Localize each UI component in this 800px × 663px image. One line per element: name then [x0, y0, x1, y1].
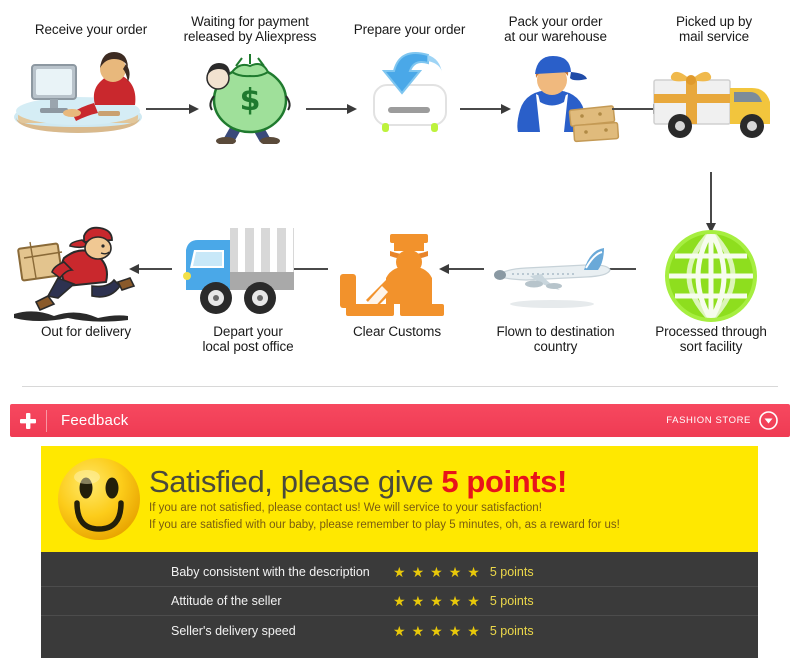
star-icon: ★: [412, 624, 425, 638]
download-box-icon: [332, 37, 487, 137]
rating-points: 5 points: [490, 565, 534, 579]
table-row: Baby consistent with the description ★ ★…: [41, 558, 758, 587]
star-icon: ★: [393, 565, 406, 579]
banner-heading-suffix: !: [557, 464, 567, 499]
flow-step-label: Processed through sort facility: [631, 324, 791, 354]
store-name-label: FASHION STORE: [666, 415, 759, 426]
rating-points: 5 points: [490, 594, 534, 608]
running-courier-icon: [6, 220, 166, 324]
customs-officer-icon: [322, 228, 472, 324]
rating-label: Seller's delivery speed: [41, 624, 371, 638]
flow-step-label: Waiting for payment released by Aliexpre…: [170, 14, 330, 44]
flow-step-pack-order: Pack your order at our warehouse: [478, 14, 633, 144]
blue-truck-icon: [168, 220, 328, 324]
star-icon: ★: [412, 594, 425, 608]
person-at-computer-icon: [6, 37, 176, 137]
smiley-face-icon: [41, 455, 145, 543]
ratings-table: Baby consistent with the description ★ ★…: [41, 552, 758, 658]
flow-step-clear-customs: Clear Customs: [322, 228, 472, 339]
flow-step-label: Clear Customs: [322, 324, 472, 339]
airplane-icon: [478, 228, 633, 324]
flow-step-waiting-payment: Waiting for payment released by Aliexpre…: [170, 14, 330, 144]
table-row: Attitude of the seller ★ ★ ★ ★ ★ 5 point…: [41, 587, 758, 616]
star-icon: ★: [449, 594, 462, 608]
banner-heading-highlight: 5 points: [441, 464, 557, 499]
star-icon: ★: [449, 624, 462, 638]
rating-stars: ★ ★ ★ ★ ★: [393, 624, 480, 638]
flow-step-label: Out for delivery: [6, 324, 166, 339]
star-icon: ★: [449, 565, 462, 579]
flow-step-label: Receive your order: [6, 22, 176, 37]
warehouse-worker-icon: [478, 44, 633, 144]
flow-step-label: Pack your order at our warehouse: [478, 14, 633, 44]
satisfied-banner: Satisfied, please give 5 points! If you …: [41, 446, 758, 552]
star-icon: ★: [430, 624, 443, 638]
flow-step-label: Flown to destination country: [478, 324, 633, 354]
mail-truck-icon: [634, 44, 794, 144]
star-icon: ★: [412, 565, 425, 579]
svg-text:$: $: [240, 83, 261, 118]
star-icon: ★: [467, 565, 480, 579]
banner-subline-1: If you are not satisfied, please contact…: [149, 500, 750, 517]
rating-label: Attitude of the seller: [41, 594, 371, 608]
flow-arrow-5-vertical: [710, 172, 712, 224]
feedback-title: Feedback: [47, 412, 666, 429]
star-icon: ★: [393, 624, 406, 638]
flow-step-flown-destination: Flown to destination country: [478, 228, 633, 354]
star-icon: ★: [430, 594, 443, 608]
star-icon: ★: [467, 594, 480, 608]
rating-stars: ★ ★ ★ ★ ★: [393, 565, 480, 579]
star-icon: ★: [430, 565, 443, 579]
flow-step-receive-order: Receive your order: [6, 22, 176, 137]
flow-step-label: Prepare your order: [332, 22, 487, 37]
flow-step-sort-facility: Processed through sort facility: [631, 228, 791, 354]
rating-points: 5 points: [490, 624, 534, 638]
star-icon: ★: [467, 624, 480, 638]
banner-text-block: Satisfied, please give 5 points! If you …: [145, 464, 758, 534]
flow-step-prepare-order: Prepare your order: [332, 22, 487, 137]
banner-heading: Satisfied, please give 5 points!: [149, 464, 750, 500]
feedback-bar[interactable]: Feedback FASHION STORE: [10, 404, 790, 437]
plus-icon[interactable]: [10, 412, 46, 430]
banner-subline-2: If you are satisfied with our baby, plea…: [149, 517, 750, 534]
green-globe-icon: [631, 228, 791, 324]
flow-step-label: Picked up by mail service: [634, 14, 794, 44]
section-divider: [22, 386, 778, 387]
table-row: Seller's delivery speed ★ ★ ★ ★ ★ 5 poin…: [41, 616, 758, 645]
flow-step-out-for-delivery: Out for delivery: [6, 220, 166, 339]
money-bag-icon: $: [170, 44, 330, 144]
star-icon: ★: [393, 594, 406, 608]
flow-step-depart-post-office: Depart your local post office: [168, 220, 328, 354]
banner-heading-prefix: Satisfied, please give: [149, 464, 441, 499]
chevron-down-circle-icon[interactable]: [759, 411, 778, 430]
rating-stars: ★ ★ ★ ★ ★: [393, 594, 480, 608]
flow-step-picked-up: Picked up by mail service: [634, 14, 794, 144]
rating-label: Baby consistent with the description: [41, 565, 371, 579]
shipping-flow-diagram: Receive your order: [0, 0, 800, 385]
flow-step-label: Depart your local post office: [168, 324, 328, 354]
